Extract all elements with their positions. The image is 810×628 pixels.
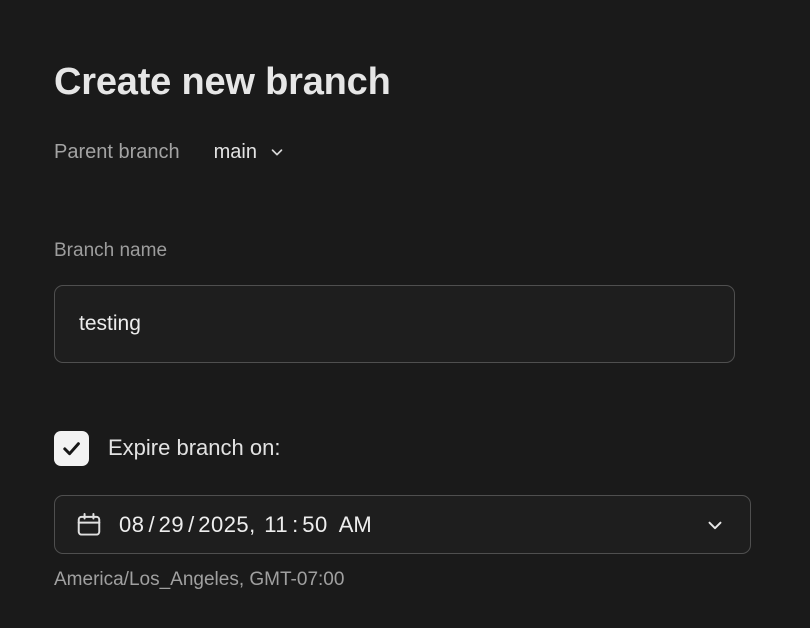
branch-name-label: Branch name — [54, 240, 167, 262]
datetime-meridiem[interactable]: AM — [339, 512, 372, 538]
parent-branch-row: Parent branch main — [54, 138, 286, 166]
chevron-down-icon[interactable] — [704, 514, 726, 536]
expire-branch-checkbox[interactable] — [54, 431, 89, 466]
datetime-month[interactable]: 08 — [119, 512, 144, 538]
calendar-icon — [75, 511, 103, 539]
parent-branch-label: Parent branch — [54, 141, 180, 164]
datetime-date-separator-2: / — [184, 512, 198, 538]
datetime-comma: , — [249, 512, 255, 538]
create-branch-dialog: Create new branch Parent branch main Bra… — [0, 0, 810, 628]
timezone-note: America/Los_Angeles, GMT-07:00 — [54, 569, 344, 591]
datetime-value[interactable]: 08 / 29 / 2025 , 11 : 50 AM — [119, 512, 704, 538]
expire-branch-checkbox-row[interactable]: Expire branch on: — [54, 430, 280, 466]
datetime-time-separator: : — [288, 512, 302, 538]
parent-branch-value: main — [214, 141, 257, 164]
expire-branch-label: Expire branch on: — [108, 435, 280, 461]
datetime-date-separator-1: / — [144, 512, 158, 538]
parent-branch-select[interactable]: main — [214, 141, 286, 164]
branch-name-input[interactable] — [54, 285, 735, 363]
chevron-down-icon — [268, 143, 286, 161]
datetime-day[interactable]: 29 — [159, 512, 184, 538]
datetime-hour[interactable]: 11 — [264, 512, 288, 538]
page-title: Create new branch — [54, 62, 391, 104]
expire-datetime-field[interactable]: 08 / 29 / 2025 , 11 : 50 AM — [54, 495, 751, 554]
datetime-minute[interactable]: 50 — [302, 512, 327, 538]
check-icon — [60, 437, 83, 460]
datetime-year[interactable]: 2025 — [198, 512, 249, 538]
